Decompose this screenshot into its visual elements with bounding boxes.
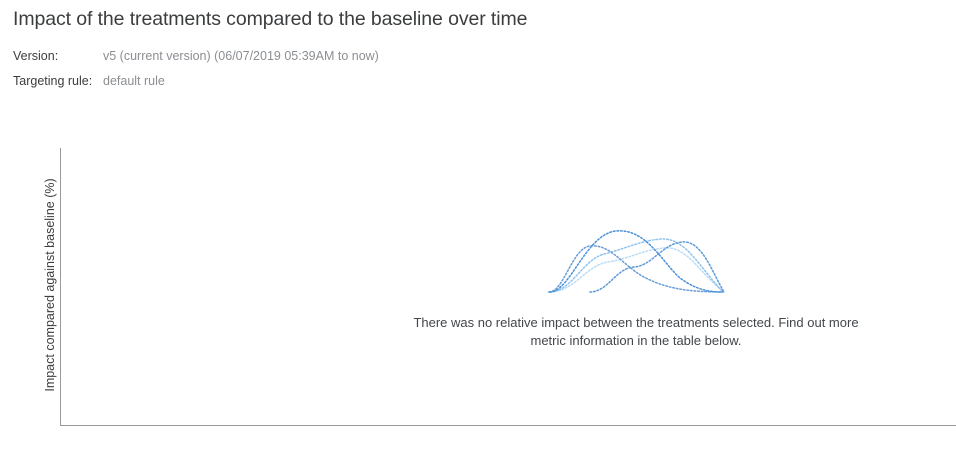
dotted-bell-curves-icon [546,222,726,296]
y-axis-label: Impact compared against baseline (%) [43,155,57,415]
x-axis-line [60,425,956,426]
y-axis-line [60,148,61,426]
empty-state: There was no relative impact between the… [366,222,906,350]
illustration-curve-3 [549,239,723,292]
targeting-rule-value: default rule [103,69,379,94]
version-value: v5 (current version) (06/07/2019 05:39AM… [103,44,379,69]
empty-state-message: There was no relative impact between the… [406,314,866,350]
illustration-curve-1 [549,246,723,292]
metadata-row-version: Version: v5 (current version) (06/07/201… [13,44,379,69]
illustration-curve-2 [550,231,722,292]
empty-state-message-line1: There was no relative impact between the… [413,315,858,330]
metadata-table: Version: v5 (current version) (06/07/201… [13,44,379,94]
targeting-rule-label: Targeting rule: [13,69,103,94]
page-title: Impact of the treatments compared to the… [13,8,527,31]
version-label: Version: [13,44,103,69]
empty-state-message-line2: metric information in the table below. [531,333,742,348]
illustration-curve-4 [548,248,724,292]
metadata-row-targeting-rule: Targeting rule: default rule [13,69,379,94]
illustration-curve-5 [590,242,724,292]
